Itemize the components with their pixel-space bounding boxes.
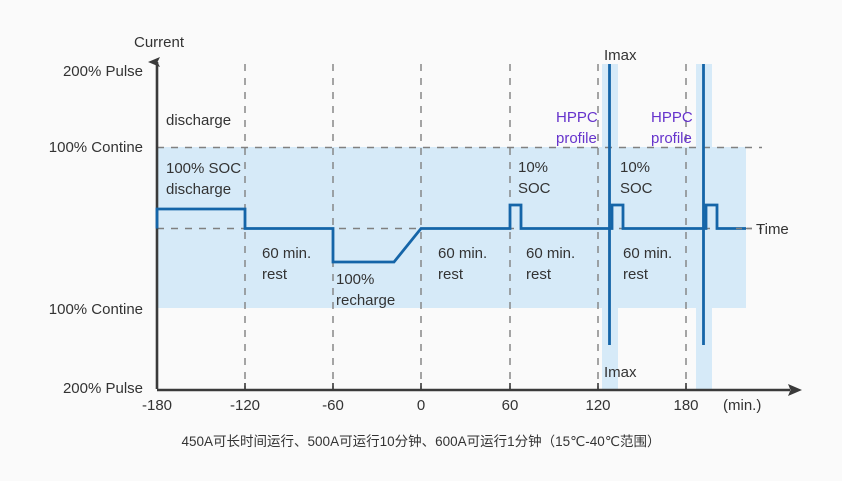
annotation-recharge-line2: recharge — [336, 292, 395, 309]
annotation-soc10-2-line1: 10% — [620, 159, 650, 176]
annotation-rest-3-line2: rest — [526, 266, 552, 283]
annotation-imax-bottom: Imax — [604, 364, 637, 381]
annotation-soc-discharge-line1: 100% SOC — [166, 160, 241, 177]
annotation-soc10-1-line2: SOC — [518, 180, 551, 197]
chart-svg: Current 200% Pulse 100% Contine 100% Con… — [0, 0, 842, 481]
x-tick-label-120: 120 — [585, 397, 610, 414]
annotation-rest-1-line1: 60 min. — [262, 245, 311, 262]
current-profile-chart: Current 200% Pulse 100% Contine 100% Con… — [0, 0, 842, 481]
x-tick-label-60: 60 — [502, 397, 519, 414]
annotation-rest-2-line2: rest — [438, 266, 464, 283]
y-label-bottom-contine: 100% Contine — [49, 301, 143, 318]
annotation-rest-4-line1: 60 min. — [623, 245, 672, 262]
y-label-bottom-pulse: 200% Pulse — [63, 380, 143, 397]
annotation-rest-4-line2: rest — [623, 266, 649, 283]
annotation-rest-3-line1: 60 min. — [526, 245, 575, 262]
annotation-soc10-1-line1: 10% — [518, 159, 548, 176]
annotation-soc10-2-line2: SOC — [620, 180, 653, 197]
annotation-discharge: discharge — [166, 112, 231, 129]
y-axis-title: Current — [134, 34, 185, 51]
annotation-hppc-2-line1: HPPC — [651, 109, 693, 126]
annotation-rest-2-line1: 60 min. — [438, 245, 487, 262]
annotation-soc-discharge-line2: discharge — [166, 181, 231, 198]
annotation-hppc-2-line2: profile — [651, 130, 692, 147]
chart-caption: 450A可长时间运行、500A可运行10分钟、600A可运行1分钟（15℃-40… — [182, 433, 661, 449]
annotation-hppc-1-line2: profile — [556, 130, 597, 147]
x-tick-label-m120: -120 — [230, 397, 260, 414]
annotation-rest-1-line2: rest — [262, 266, 288, 283]
time-axis-label: Time — [756, 221, 789, 238]
annotation-hppc-1-line1: HPPC — [556, 109, 598, 126]
annotation-recharge-line1: 100% — [336, 271, 374, 288]
x-axis-unit: (min.) — [723, 397, 761, 414]
annotation-imax-top: Imax — [604, 47, 637, 64]
x-tick-label-m60: -60 — [322, 397, 344, 414]
x-tick-label-m180: -180 — [142, 397, 172, 414]
x-tick-label-0: 0 — [417, 397, 425, 414]
x-tick-label-180: 180 — [673, 397, 698, 414]
y-label-top-pulse: 200% Pulse — [63, 63, 143, 80]
y-label-top-contine: 100% Contine — [49, 139, 143, 156]
